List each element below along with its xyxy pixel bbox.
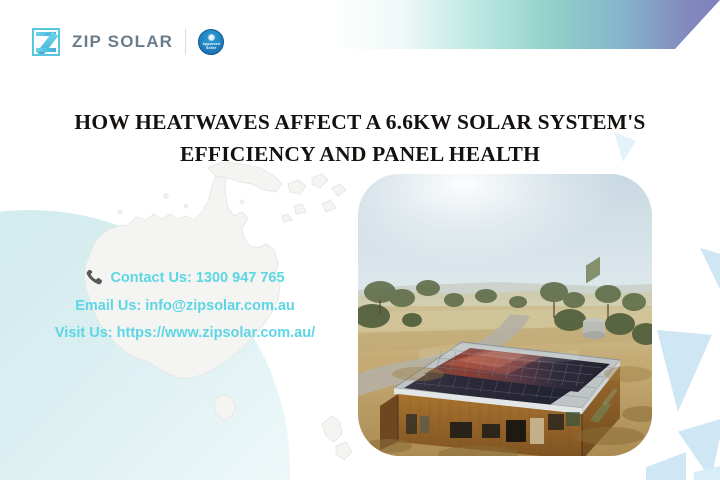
approved-seller-seal-icon: Approved Seller: [198, 29, 224, 55]
contact-website-row[interactable]: Visit Us: https://www.zipsolar.com.au/: [20, 325, 350, 341]
seal-label-line2: Seller: [206, 46, 216, 50]
decor-triangle-1: [657, 330, 712, 412]
decor-triangle-3: [646, 452, 686, 480]
zip-z-mark-icon: [32, 28, 60, 56]
page-title: HOW HEATWAVES AFFECT A 6.6KW SOLAR SYSTE…: [60, 106, 660, 170]
brand-divider: [185, 29, 186, 55]
contact-email-row[interactable]: Email Us: info@zipsolar.com.au: [20, 298, 350, 314]
contact-phone-text: Contact Us: 1300 947 765: [110, 270, 284, 286]
title-line-1: HOW HEATWAVES AFFECT A 6.6KW SOLAR SYSTE…: [74, 110, 645, 134]
top-gradient-banner: [330, 0, 720, 49]
contact-phone-row[interactable]: Contact Us: 1300 947 765: [20, 268, 350, 287]
brand-header: ZIP SOLAR Approved Seller: [32, 28, 224, 56]
title-line-2: EFFICIENCY AND PANEL HEALTH: [60, 138, 660, 170]
decor-triangle-2: [678, 418, 720, 480]
decor-triangle-4: [700, 248, 720, 310]
brand-name: ZIP SOLAR: [72, 32, 173, 52]
contact-email-text: Email Us: info@zipsolar.com.au: [75, 298, 295, 314]
contact-block: Contact Us: 1300 947 765 Email Us: info@…: [20, 268, 350, 341]
phone-handset-icon: [85, 268, 104, 287]
decor-triangle-5: [694, 466, 720, 480]
hero-photo: [358, 174, 652, 456]
contact-website-text: Visit Us: https://www.zipsolar.com.au/: [55, 325, 315, 341]
bottom-left-teal-circle: [0, 210, 290, 480]
poster-canvas: ZIP SOLAR Approved Seller HOW HEATWAVES …: [0, 0, 720, 480]
seal-inner-dot: [208, 34, 215, 41]
